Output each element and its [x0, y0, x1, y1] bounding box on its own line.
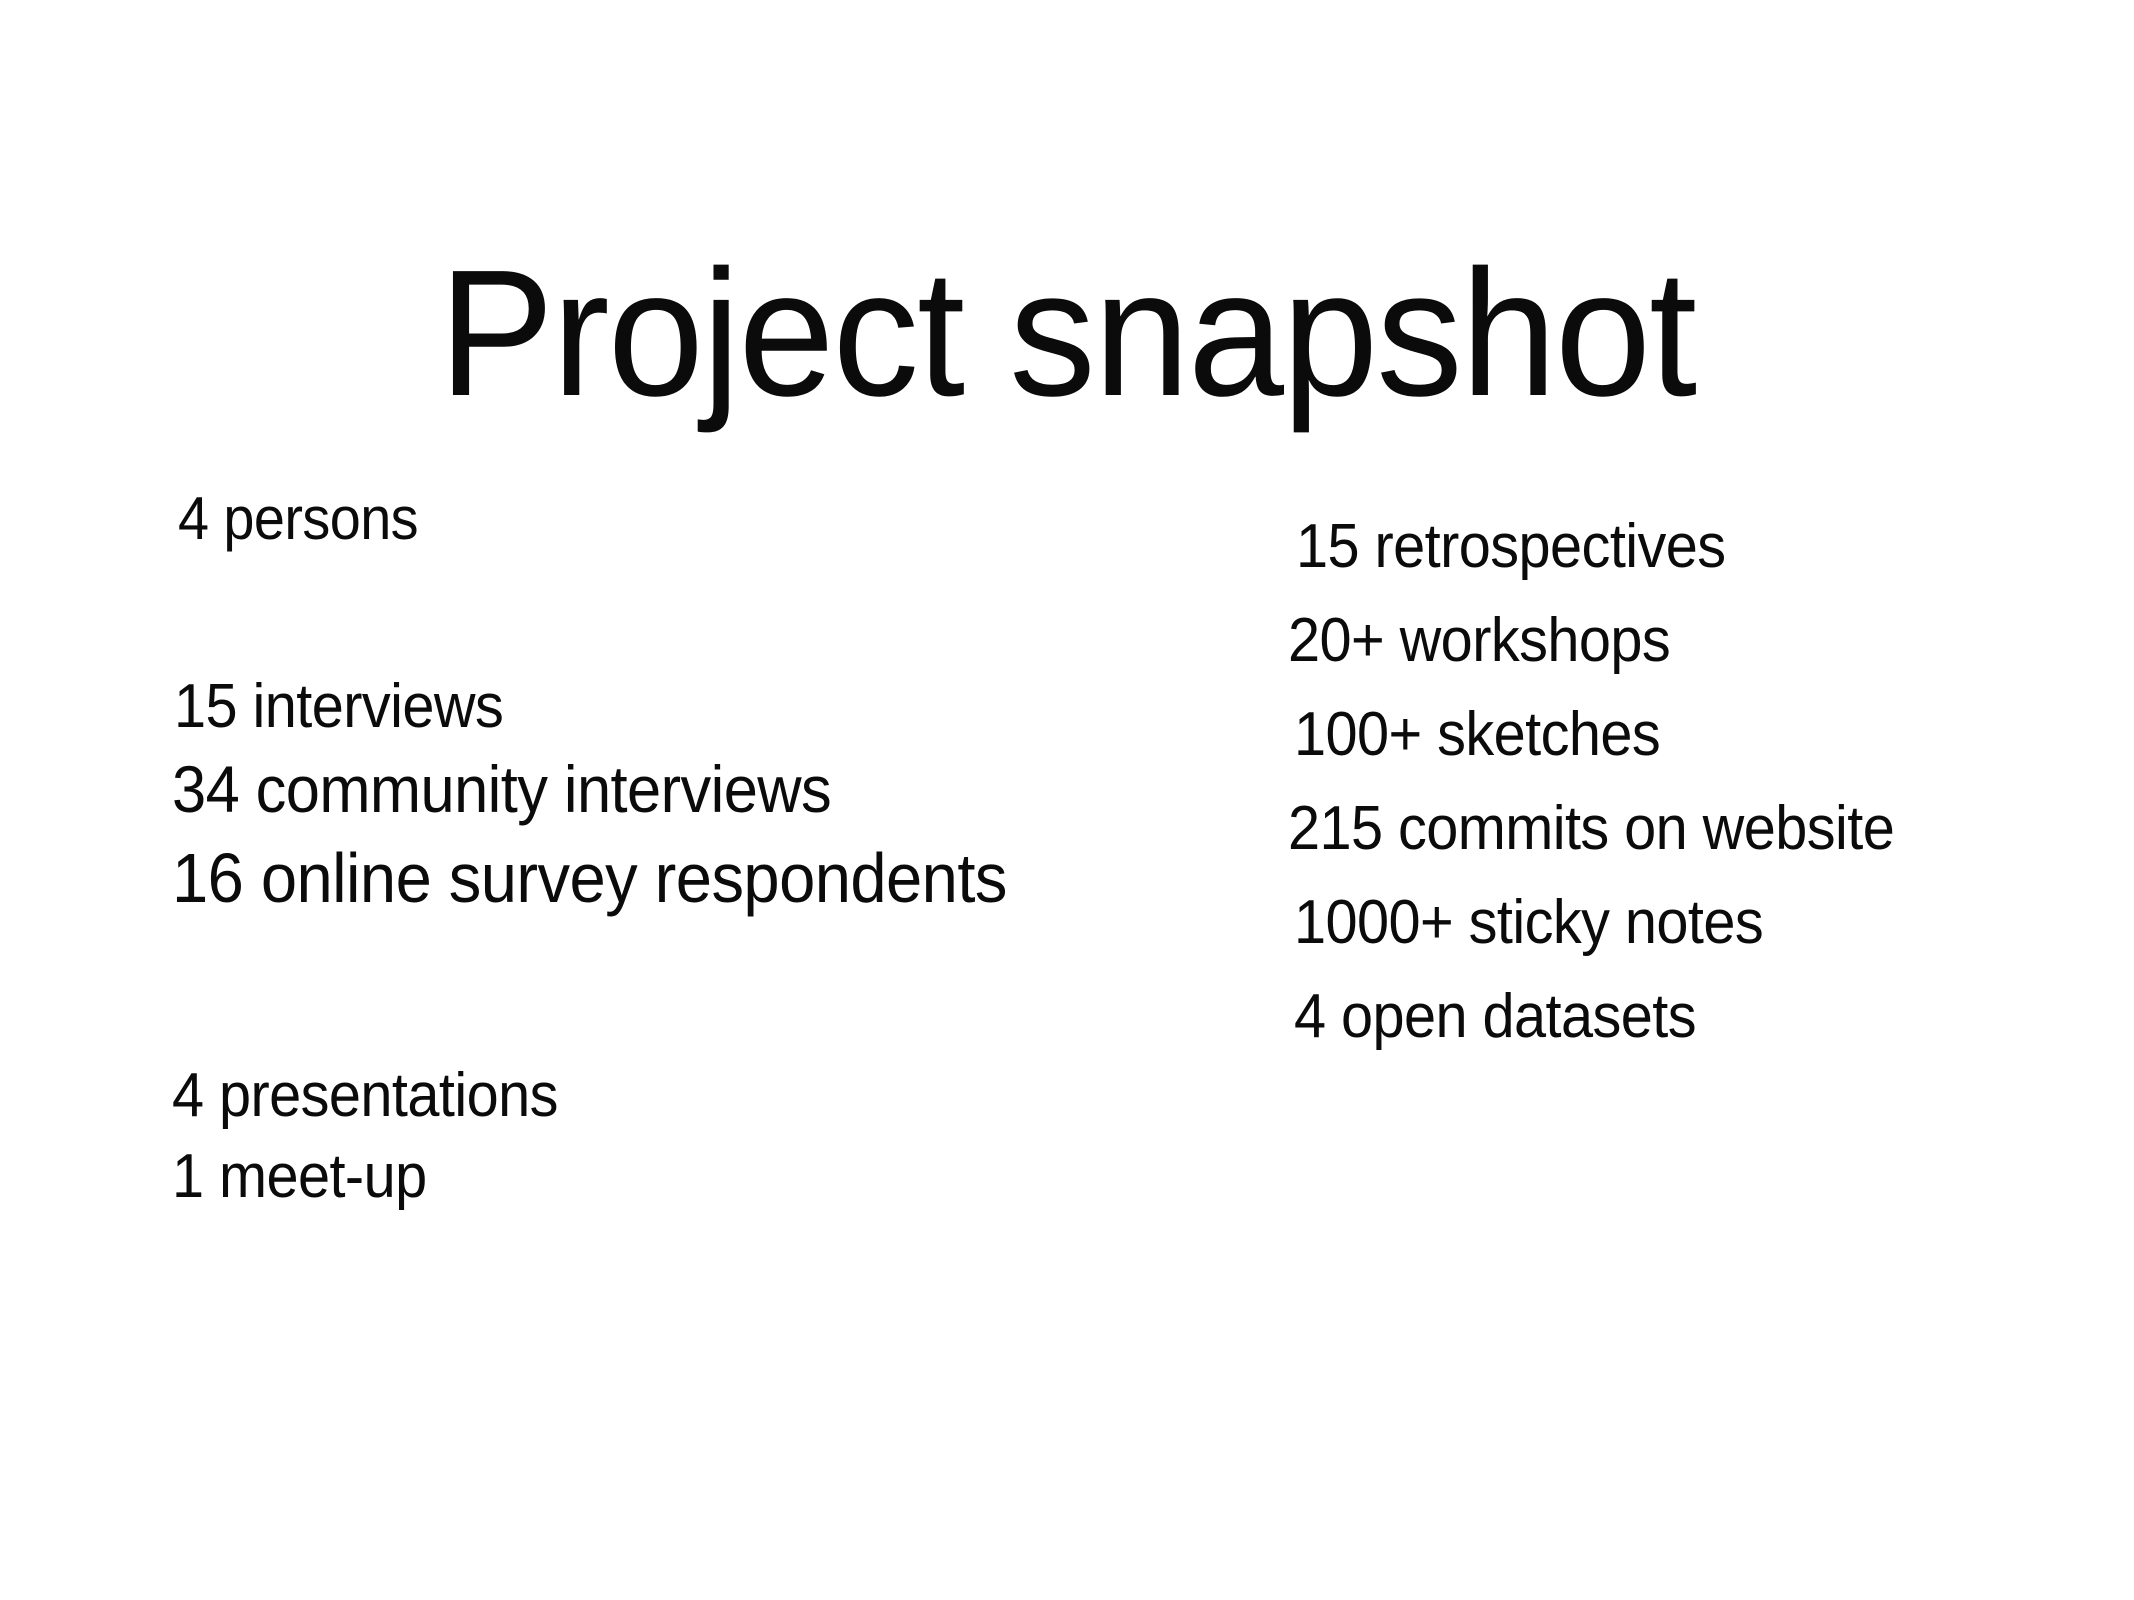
stat-line-online-survey-respondents: 16 online survey respondents	[172, 832, 1102, 924]
page-title: Project snapshot	[43, 239, 2092, 428]
stat-line-interviews: 15 interviews	[174, 668, 1102, 746]
left-stats-column: 4 persons 15 interviews 34 community int…	[172, 482, 1172, 1218]
stat-line-meet-up: 1 meet-up	[172, 1136, 1102, 1218]
right-stats-column: 15 retrospectives 20+ workshops 100+ ske…	[1288, 500, 2108, 1064]
stat-line-workshops: 20+ workshops	[1288, 594, 2051, 688]
stat-line-presentations: 4 presentations	[172, 1056, 1102, 1136]
stat-line-sketches: 100+ sketches	[1294, 688, 2051, 782]
group-separator	[172, 924, 1172, 1056]
stat-line-sticky-notes: 1000+ sticky notes	[1294, 876, 2051, 970]
presentation-slide: Project snapshot 4 persons 15 interviews…	[0, 0, 2134, 1600]
group-separator	[172, 556, 1172, 668]
stat-line-commits-on-website: 215 commits on website	[1288, 782, 2051, 876]
stat-line-persons: 4 persons	[178, 482, 1102, 556]
stat-line-open-datasets: 4 open datasets	[1294, 970, 2051, 1064]
stat-line-retrospectives: 15 retrospectives	[1296, 500, 2051, 594]
stat-line-community-interviews: 34 community interviews	[172, 746, 1102, 832]
